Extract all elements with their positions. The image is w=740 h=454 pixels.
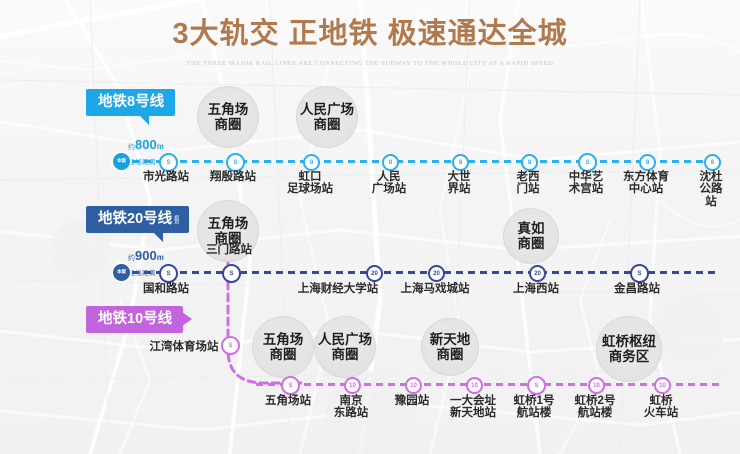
poster-header: 3大轨交 正地铁 极速通达全城 THE THREE MAJOR RAIL LIN… [0, 18, 740, 67]
station-dot-hongkou[interactable]: 8 [303, 154, 320, 171]
station-label: 中华艺 术宫站 [569, 171, 604, 196]
station-label: 人民 广场站 [372, 171, 407, 196]
line-badge-10[interactable]: 地铁10号线 [86, 306, 183, 333]
station-label: 上海马戏城站 [401, 283, 470, 295]
district-name: 新天地 [430, 332, 471, 347]
line-badge-20-note: 规划 [173, 215, 178, 223]
station-label: 市光路站 [143, 171, 189, 183]
distance-unit: m [157, 253, 164, 262]
station-dot-jinchanglu[interactable]: S [630, 264, 649, 283]
district-name: 人民广场 [300, 102, 354, 117]
origin-marker-line8: 本案 [113, 153, 130, 170]
origin-label: 本案 [117, 270, 126, 275]
origin-label: 本案 [117, 159, 126, 164]
district-type: 商圈 [314, 117, 341, 132]
origin-marker-line20: 本案 [113, 264, 130, 281]
station-dot-hongqiao-t2[interactable]: 10 [588, 377, 605, 394]
page-subtitle: THE THREE MAJOR RAIL LINES ARE CONNECTIN… [0, 60, 740, 67]
district-bubble-xintiandi: 新天地 商圈 [421, 318, 479, 376]
station-label: 南京 东路站 [334, 395, 369, 420]
station-dot-yuyuan[interactable]: 10 [405, 377, 422, 394]
station-label: 虹口 足球场站 [287, 171, 333, 196]
station-dot-jiangwantiyuchang[interactable]: S [221, 336, 240, 355]
district-bubble-wujiaochang-l8: 五角场 商圈 [197, 86, 259, 148]
line-badge-8[interactable]: 地铁8号线 [86, 89, 175, 116]
station-dot-zhonghua[interactable]: S [578, 153, 597, 172]
district-name: 五角场 [208, 102, 249, 117]
station-dot-shanghaixi[interactable]: 20 [529, 265, 546, 282]
district-bubble-renminguangchang-l10: 人民广场 商圈 [314, 316, 376, 378]
district-type: 商务区 [609, 349, 650, 364]
station-dot-xiangyinlu[interactable]: S [226, 153, 245, 172]
station-label: 东方体育 中心站 [623, 171, 669, 196]
rail-line-10 [256, 383, 720, 386]
station-dot-dongfang[interactable]: 8 [639, 154, 656, 171]
distance-value: 900 [135, 248, 157, 263]
distance-note: 直线距离 [128, 267, 164, 277]
station-dot-nanjingdonglu[interactable]: 10 [344, 377, 361, 394]
station-dot-renmin[interactable]: 8 [382, 154, 399, 171]
district-type: 商圈 [332, 347, 359, 362]
distance-prefix: 约 [128, 144, 135, 151]
district-name: 人民广场 [318, 332, 372, 347]
station-label: 沈杜 公路站 [697, 171, 726, 208]
distance-prefix: 约 [128, 255, 135, 262]
station-label: 豫园站 [395, 395, 430, 407]
station-label: 大世 界站 [448, 171, 471, 196]
district-type: 商圈 [270, 347, 297, 362]
station-label: 国和路站 [143, 283, 189, 295]
station-label: 虹桥 火车站 [644, 395, 679, 420]
station-label: 金昌路站 [614, 283, 660, 295]
district-bubble-zhenru: 真如 商圈 [503, 208, 559, 264]
transit-poster: 3大轨交 正地铁 极速通达全城 THE THREE MAJOR RAIL LIN… [0, 0, 740, 454]
district-bubble-renminguangchang-l8: 人民广场 商圈 [296, 86, 358, 148]
station-label-above: 江湾体育场站 [150, 341, 219, 353]
district-name: 五角场 [263, 332, 304, 347]
station-label: 五角场站 [265, 395, 311, 407]
station-label: 虹桥1号 航站楼 [514, 395, 555, 420]
district-bubble-wujiaochang-l10: 五角场 商圈 [252, 316, 314, 378]
station-label: 上海西站 [513, 283, 559, 295]
line-badge-20-label: 地铁20号线 [98, 212, 172, 227]
station-label: 上海财经大学站 [298, 283, 379, 295]
line-badge-10-label: 地铁10号线 [98, 312, 172, 327]
line-badge-8-label: 地铁8号线 [98, 95, 164, 110]
station-dot-sanmenlu[interactable]: S [222, 264, 241, 283]
station-label: 翔殷路站 [210, 171, 256, 183]
distance-marker-line8: 约800m 直线距离 [128, 136, 164, 166]
station-dot-laoximen[interactable]: 8 [521, 154, 538, 171]
station-dot-maxicheng[interactable]: 20 [428, 265, 445, 282]
district-bubble-hongqiaoshuniu: 虹桥枢纽 商务区 [596, 316, 662, 382]
distance-note: 直线距离 [128, 156, 164, 166]
station-dot-shendu[interactable]: 8 [704, 154, 721, 171]
page-title: 3大轨交 正地铁 极速通达全城 [0, 18, 740, 51]
district-name: 真如 [518, 221, 545, 236]
station-label-above: 三门路站 [206, 244, 252, 256]
station-dot-xintiandi[interactable]: 10 [466, 377, 483, 394]
line-badge-20[interactable]: 地铁20号线 规划 [86, 206, 189, 233]
rail-line-8 [120, 160, 720, 163]
district-type: 商圈 [518, 236, 545, 251]
distance-marker-line20: 约900m 直线距离 [128, 247, 164, 277]
station-dot-caijingdaxue[interactable]: 20 [366, 265, 383, 282]
district-name: 虹桥枢纽 [602, 334, 656, 349]
station-label: 老西 门站 [517, 171, 540, 196]
station-dot-hongqiao-t1[interactable]: S [527, 376, 546, 395]
district-type: 商圈 [437, 347, 464, 362]
district-name: 五角场 [208, 216, 249, 231]
station-dot-wujiaochang[interactable]: S [281, 376, 300, 395]
station-dot-hongqiaohuochezhan[interactable]: 10 [654, 377, 671, 394]
station-label: 虹桥2号 航站楼 [575, 395, 616, 420]
district-type: 商圈 [215, 117, 242, 132]
distance-unit: m [157, 142, 164, 151]
station-label: 一大会址 新天地站 [450, 395, 496, 420]
distance-value: 800 [135, 137, 157, 152]
station-dot-dashijie[interactable]: 8 [452, 154, 469, 171]
